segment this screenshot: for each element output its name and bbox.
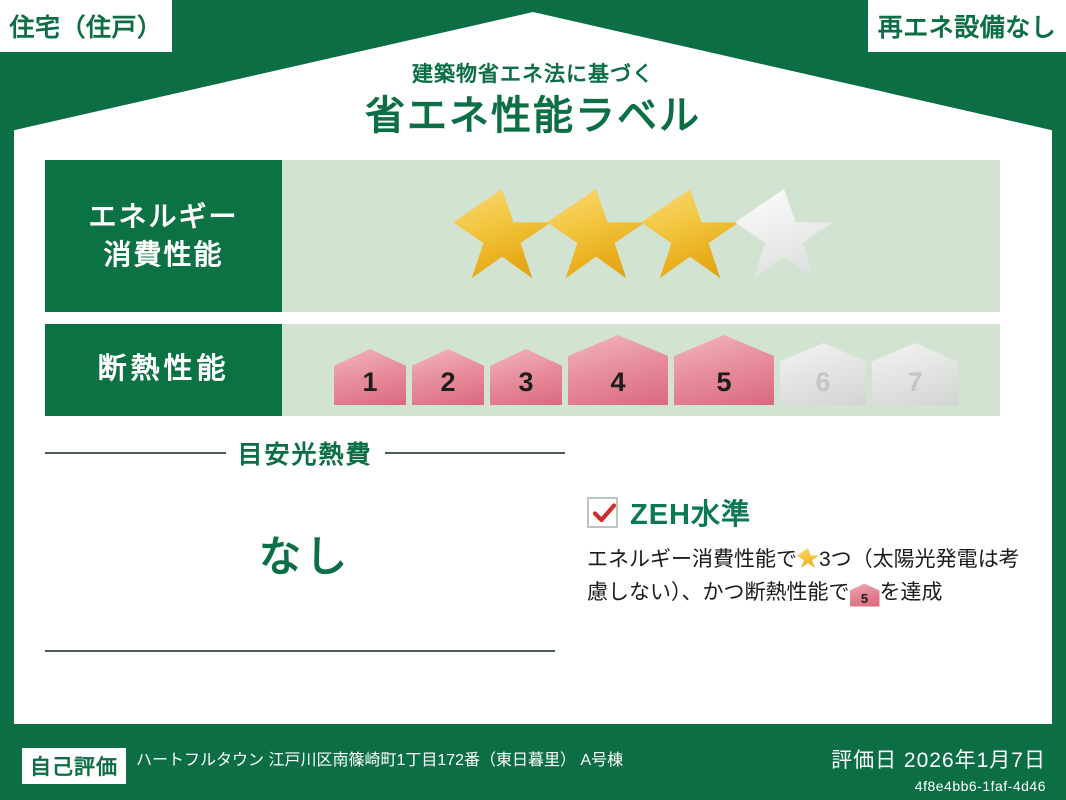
evaluation-meta: 評価日 2026年1月7日 4f8e4bb6-1faf-4d46 [831, 744, 1046, 794]
house-filled-icon: 1 [334, 349, 406, 405]
house-filled-icon: 3 [490, 349, 562, 405]
utility-cost-rule-left [45, 452, 226, 454]
building-type-tag: 住宅（住戸） [0, 0, 172, 52]
energy-performance-value [282, 160, 1000, 312]
energy-performance-label: エネルギー 消費性能 [45, 160, 282, 312]
house-filled-icon: 2 [412, 349, 484, 405]
self-evaluation-badge: 自己評価 [22, 748, 126, 784]
performance-area: エネルギー 消費性能 断熱性能 1234567 [45, 160, 1000, 428]
house-empty-icon: 6 [780, 343, 866, 405]
insulation-grade-number: 1 [362, 369, 377, 405]
zeh-desc-star-count: 3つ（太陽光発電 [819, 548, 978, 571]
insulation-grade-scale: 1234567 [334, 335, 958, 405]
renewable-energy-tag-label: 再エネ設備なし [878, 8, 1057, 44]
zeh-checkbox[interactable] [587, 497, 618, 528]
star-filled-icon [547, 189, 645, 283]
utility-cost-heading: 目安光熱費 [45, 435, 565, 471]
utility-cost-rule-right [385, 452, 566, 454]
insulation-performance-label-text: 断熱性能 [97, 350, 229, 389]
insulation-grade-number: 6 [815, 369, 830, 405]
insulation-grade-item: 4 [568, 335, 668, 405]
insulation-grade-item: 2 [412, 349, 484, 405]
checkmark-icon [591, 500, 618, 527]
insulation-grade-number: 2 [440, 369, 455, 405]
star-rating [453, 189, 829, 283]
insulation-performance-label: 断熱性能 [45, 324, 282, 416]
building-type-tag-label: 住宅（住戸） [9, 8, 162, 44]
building-name: ハートフルタウン 江戸川区南篠崎町1丁目172番（東日暮里） A号棟 [136, 749, 623, 772]
label-footer: 自己評価 ハートフルタウン 江戸川区南篠崎町1丁目172番（東日暮里） A号棟 … [0, 724, 1066, 800]
insulation-grade-item: 5 [674, 335, 774, 405]
utility-cost-heading-text: 目安光熱費 [238, 435, 373, 471]
house-filled-icon: 5 [674, 335, 774, 405]
star-filled-icon [641, 189, 739, 283]
zeh-desc-part1: エネルギー消費性能で [587, 548, 797, 571]
utility-cost-bottom-rule [45, 650, 555, 652]
inline-house-icon: 5 [850, 584, 880, 607]
zeh-block: ZEH水準 エネルギー消費性能で3つ（太陽光発電は考慮しない）、かつ断熱性能で5… [565, 435, 1020, 652]
utility-cost-block: 目安光熱費 なし [45, 435, 565, 652]
insulation-performance-row: 断熱性能 1234567 [45, 324, 1000, 416]
insulation-grade-number: 4 [610, 369, 625, 405]
utility-cost-value: なし [45, 523, 565, 584]
insulation-grade-number: 3 [518, 369, 533, 405]
renewable-energy-tag: 再エネ設備なし [868, 0, 1066, 52]
insulation-grade-item: 6 [780, 343, 866, 405]
star-empty-icon [735, 189, 833, 283]
energy-performance-label-line1: エネルギー [88, 198, 238, 236]
evaluation-date: 評価日 2026年1月7日 [831, 744, 1046, 774]
inline-star-icon [797, 548, 819, 569]
insulation-performance-value: 1234567 [282, 324, 1000, 416]
energy-performance-label-line2: 消費性能 [103, 236, 223, 274]
zeh-desc-part3: を達成 [880, 581, 943, 604]
insulation-grade-item: 3 [490, 349, 562, 405]
energy-performance-row: エネルギー 消費性能 [45, 160, 1000, 312]
energy-label-card: 住宅（住戸） 再エネ設備なし 建築物省エネ法に基づく 省エネ性能ラベル エネルギ… [0, 0, 1066, 800]
insulation-grade-item: 1 [334, 349, 406, 405]
zeh-description: エネルギー消費性能で3つ（太陽光発電は考慮しない）、かつ断熱性能で5を達成 [587, 544, 1020, 609]
lower-section: 目安光熱費 なし ZEH水準 エネルギー消費性能で3つ（太陽光 [45, 435, 1020, 652]
insulation-grade-number: 5 [716, 369, 731, 405]
evaluation-id: 4f8e4bb6-1faf-4d46 [831, 778, 1046, 794]
house-empty-icon: 7 [872, 343, 958, 405]
zeh-heading: ZEH水準 [587, 491, 1020, 533]
zeh-title: ZEH水準 [630, 491, 751, 533]
insulation-grade-item: 7 [872, 343, 958, 405]
insulation-grade-number: 7 [907, 369, 922, 405]
house-filled-icon: 4 [568, 335, 668, 405]
star-filled-icon [453, 189, 551, 283]
